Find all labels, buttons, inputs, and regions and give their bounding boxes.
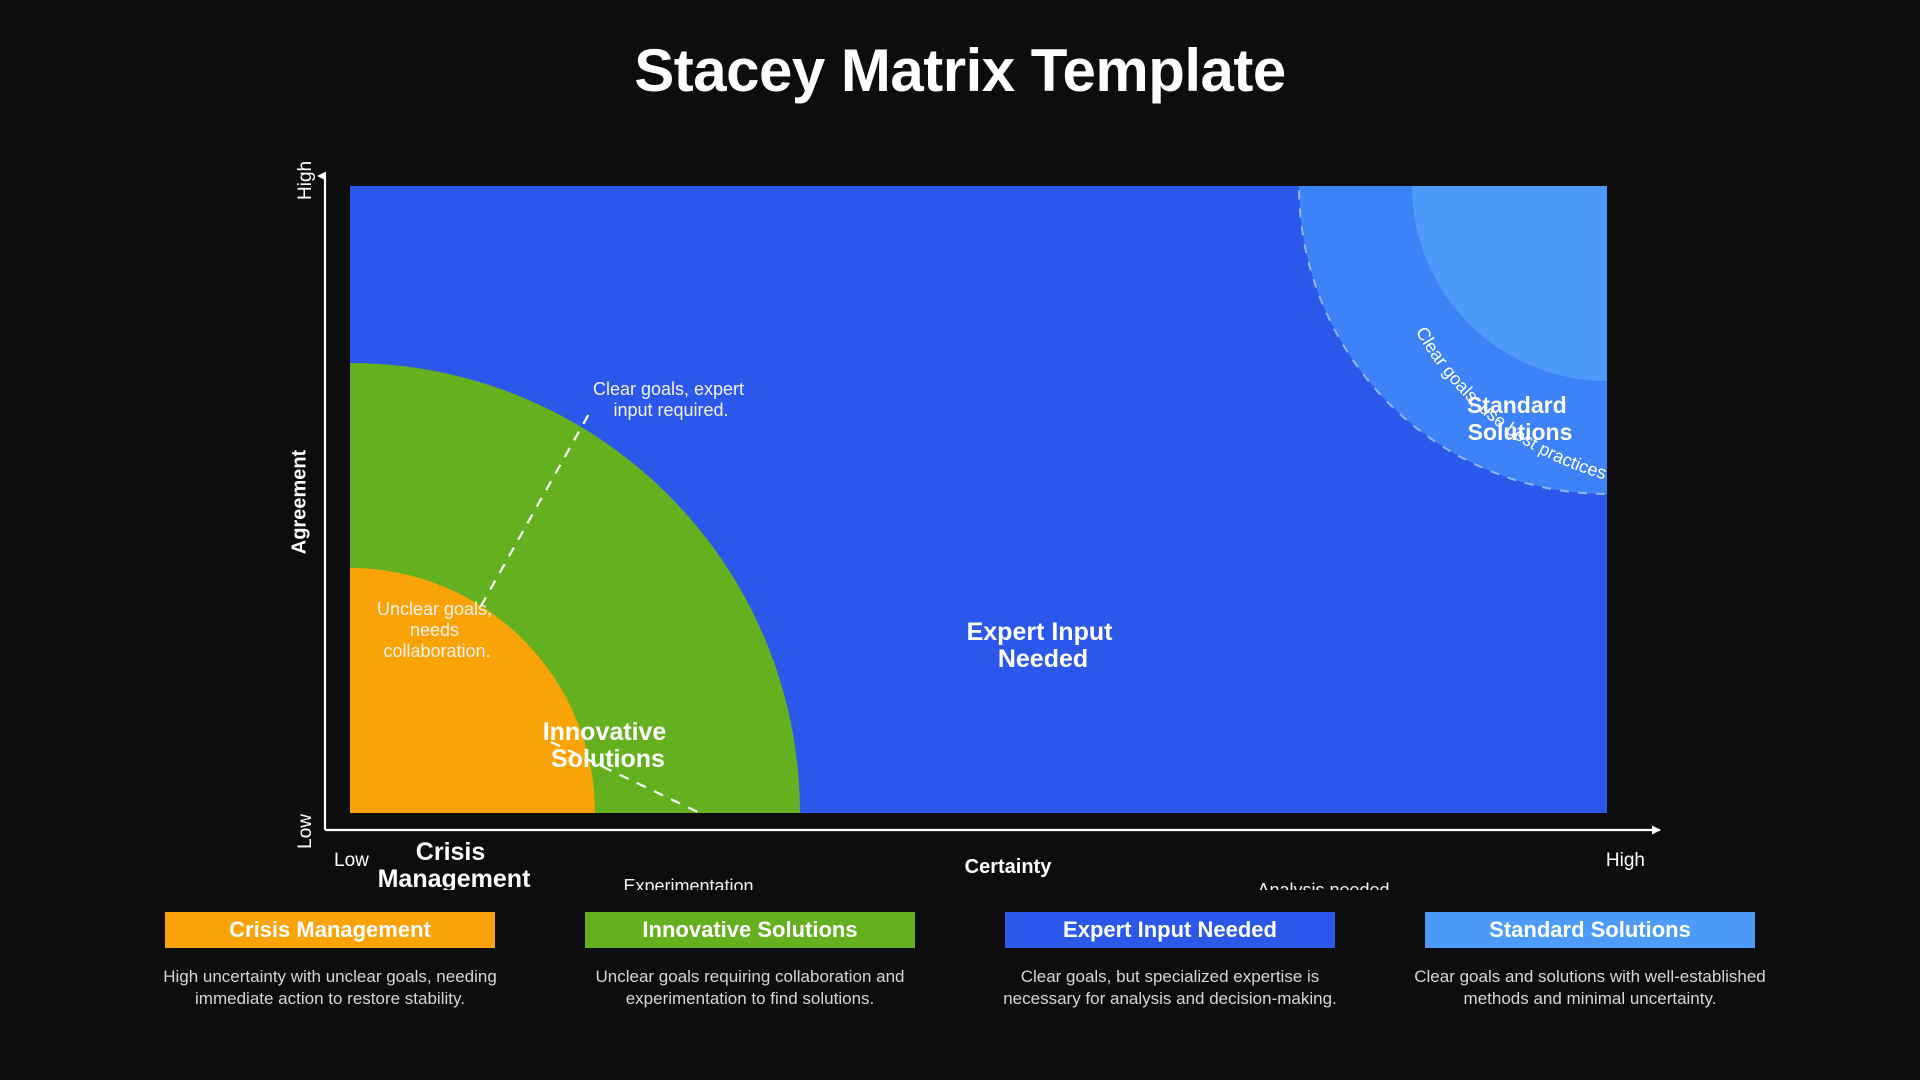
page-title: Stacey Matrix Template <box>0 36 1920 105</box>
y-axis-high-label: High <box>295 161 316 200</box>
y-axis-title: Agreement <box>288 449 310 554</box>
annotation-blue-lower-line-1: Analysis needed <box>1257 880 1389 890</box>
legend-item-crisis-management[interactable]: Crisis Management High uncertainty with … <box>143 912 518 1011</box>
x-axis-title: Certainty <box>965 856 1053 878</box>
zone-label-crisis-management: Crisis Management <box>378 838 531 890</box>
x-axis-low-label: Low <box>334 850 369 871</box>
matrix-chart: High Low Agreement Low High Certainty Cr… <box>0 150 1920 890</box>
crisis-title-line-2: Management <box>378 865 531 890</box>
annotation-top-blue: Clear goals, expert input required. <box>593 379 749 420</box>
stacey-matrix-figure: High Low Agreement Low High Certainty Cr… <box>0 150 1920 890</box>
expert-title-line-1: Expert Input <box>967 618 1114 646</box>
legend-chip-crisis-management: Crisis Management <box>165 912 495 948</box>
legend: Crisis Management High uncertainty with … <box>0 912 1920 1011</box>
legend-description-expert-input-needed: Clear goals, but specialized expertise i… <box>990 966 1350 1011</box>
legend-item-innovative-solutions[interactable]: Innovative Solutions Unclear goals requi… <box>563 912 938 1011</box>
innovative-title-line-2: Solutions <box>551 745 665 773</box>
x-axis-high-label: High <box>1606 850 1645 871</box>
annotation-top-blue-line-1: Clear goals, expert <box>593 379 744 399</box>
legend-chip-standard-solutions: Standard Solutions <box>1425 912 1755 948</box>
annotation-green-lower-line-1: Experimentation <box>623 876 753 890</box>
zone-label-innovative-solutions: Innovative Solutions <box>543 718 674 773</box>
annotation-green-lower: Experimentation leads to solutions. <box>623 876 758 890</box>
y-axis-low-label: Low <box>295 814 316 849</box>
legend-description-crisis-management: High uncertainty with unclear goals, nee… <box>150 966 510 1011</box>
annotation-blue-lower: Analysis needed for solution. <box>1257 880 1394 890</box>
innovative-title-line-1: Innovative <box>543 718 667 746</box>
legend-chip-innovative-solutions: Innovative Solutions <box>585 912 915 948</box>
crisis-title-line-1: Crisis <box>416 838 485 866</box>
annotation-green-upper-line-3: collaboration. <box>383 641 490 661</box>
expert-title-line-2: Needed <box>998 645 1088 673</box>
annotation-green-upper-line-2: needs <box>410 620 459 640</box>
legend-item-standard-solutions[interactable]: Standard Solutions Clear goals and solut… <box>1403 912 1778 1011</box>
annotation-green-upper-line-1: Unclear goals, <box>377 599 492 619</box>
legend-item-expert-input-needed[interactable]: Expert Input Needed Clear goals, but spe… <box>983 912 1358 1011</box>
annotation-top-blue-line-2: input required. <box>613 400 728 420</box>
legend-description-standard-solutions: Clear goals and solutions with well-esta… <box>1410 966 1770 1011</box>
legend-description-innovative-solutions: Unclear goals requiring collaboration an… <box>570 966 930 1011</box>
legend-chip-expert-input-needed: Expert Input Needed <box>1005 912 1335 948</box>
